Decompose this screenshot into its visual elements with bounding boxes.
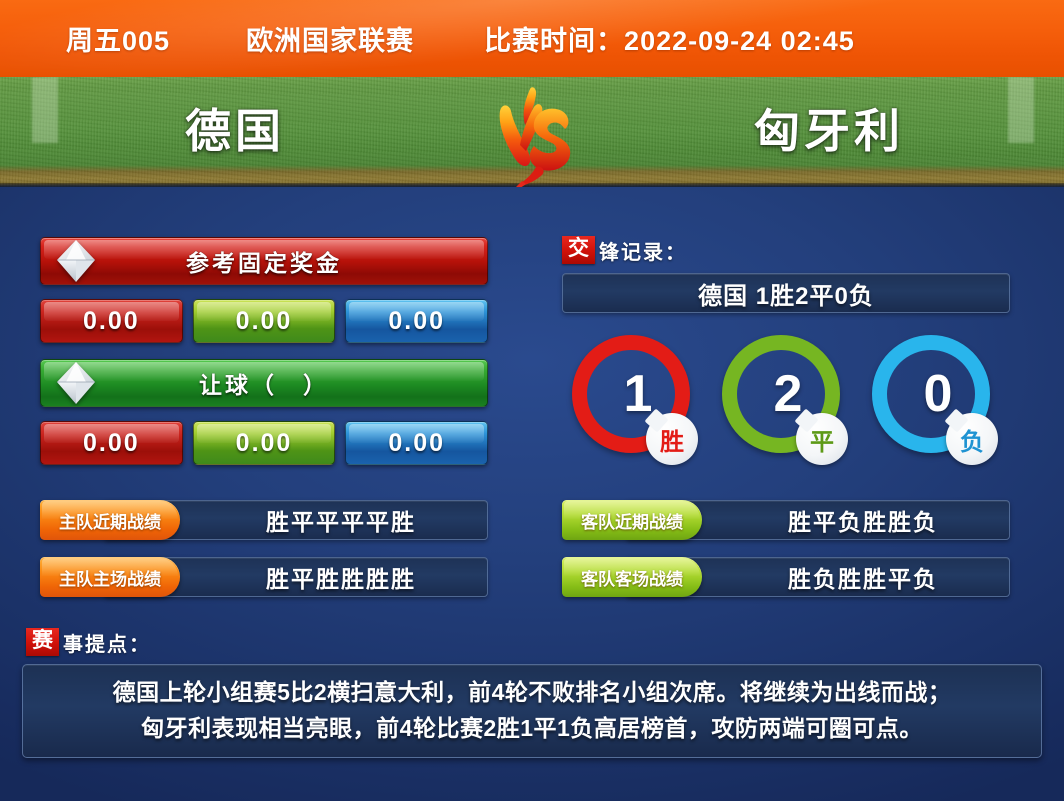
diamond-gem-icon: [55, 238, 97, 284]
main-body: 参考固定奖金 0.00 0.00 0.00: [0, 187, 1064, 801]
away-recent-form-tag: 客队近期战绩: [562, 500, 702, 540]
away-venue-form-row: 胜负胜胜平负 客队客场战绩: [562, 557, 1010, 597]
h2h-summary-text: 德国 1胜2平0负: [698, 276, 874, 311]
away-venue-form-label: 客队客场战绩: [581, 565, 683, 590]
away-recent-form-label: 客队近期战绩: [581, 508, 683, 533]
fixed-odds-title: 参考固定奖金: [186, 244, 342, 278]
h2h-ring-draw: 2 平: [722, 335, 842, 467]
handicap-odds-loss-value: 0.00: [388, 429, 445, 458]
league-name-label: 欧洲国家联赛: [246, 19, 414, 58]
notes-box: 德国上轮小组赛5比2横扫意大利，前4轮不败排名小组次席。将继续为出线而战； 匈牙…: [22, 664, 1042, 758]
match-time-label: 比赛时间：2022-09-24 02:45: [484, 19, 855, 58]
ring-win-badge: 胜: [646, 413, 698, 465]
away-recent-form-value: 胜平负胜胜负: [788, 503, 938, 537]
handicap-odds-row: 0.00 0.00 0.00: [40, 421, 488, 465]
h2h-heading-text: 锋记录：: [599, 236, 687, 265]
ring-loss-badge: 负: [946, 413, 998, 465]
handicap-odds-loss-button[interactable]: 0.00: [345, 421, 488, 465]
h2h-summary-bar: 德国 1胜2平0负: [562, 273, 1010, 313]
header-bar: 周五005 欧洲国家联赛 比赛时间：2022-09-24 02:45: [0, 0, 1064, 77]
home-venue-form-row: 胜平胜胜胜胜 主队主场战绩: [40, 557, 488, 597]
ring-draw-badge: 平: [796, 413, 848, 465]
notes-heading-text: 事提点：: [63, 628, 151, 657]
fixed-odds-loss-value: 0.00: [388, 307, 445, 336]
h2h-heading: 交 锋记录：: [562, 235, 1010, 265]
ring-draw-badge-label: 平: [810, 422, 834, 457]
away-venue-form-tag: 客队客场战绩: [562, 557, 702, 597]
fixed-odds-win-value: 0.00: [83, 307, 140, 336]
home-recent-form-value: 胜平平平平胜: [266, 503, 416, 537]
handicap-title: 让球（ ）: [199, 366, 329, 400]
odds-panel: 参考固定奖金 0.00 0.00 0.00: [40, 237, 488, 465]
handicap-odds-win-value: 0.00: [83, 429, 140, 458]
diamond-gem-icon: [55, 360, 97, 406]
notes-heading-tag: 赛: [26, 628, 59, 656]
handicap-header: 让球（ ）: [40, 359, 488, 407]
home-venue-form-label: 主队主场战绩: [59, 565, 161, 590]
notes-line-2: 匈牙利表现相当亮眼，前4轮比赛2胜1平1负高居榜首，攻防两端可圈可点。: [41, 710, 1023, 746]
pitch-banner: 德国: [0, 77, 1064, 187]
handicap-odds-draw-button[interactable]: 0.00: [193, 421, 336, 465]
match-notes-block: 赛 事提点： 德国上轮小组赛5比2横扫意大利，前4轮不败排名小组次席。将继续为出…: [22, 627, 1042, 758]
fixed-odds-loss-button[interactable]: 0.00: [345, 299, 488, 343]
home-recent-form-label: 主队近期战绩: [59, 508, 161, 533]
fixed-odds-row: 0.00 0.00 0.00: [40, 299, 488, 343]
home-team-name: 德国: [0, 95, 470, 161]
h2h-ring-win: 1 胜: [572, 335, 692, 467]
fixed-odds-header: 参考固定奖金: [40, 237, 488, 285]
h2h-heading-tag: 交: [562, 236, 595, 264]
away-venue-form-value: 胜负胜胜平负: [788, 560, 938, 594]
h2h-rings-row: 1 胜 2 平 0 负: [562, 335, 1010, 485]
home-recent-form-tag: 主队近期战绩: [40, 500, 180, 540]
home-venue-form-tag: 主队主场战绩: [40, 557, 180, 597]
ring-loss-badge-label: 负: [960, 422, 984, 457]
notes-heading: 赛 事提点：: [26, 627, 1042, 657]
h2h-ring-loss: 0 负: [872, 335, 992, 467]
fixed-odds-win-button[interactable]: 0.00: [40, 299, 183, 343]
ring-win-badge-label: 胜: [660, 422, 684, 457]
away-team-name: 匈牙利: [594, 95, 1064, 161]
match-preview-card: 周五005 欧洲国家联赛 比赛时间：2022-09-24 02:45 德国: [0, 0, 1064, 801]
handicap-odds-win-button[interactable]: 0.00: [40, 421, 183, 465]
vs-flame-icon: [478, 85, 588, 187]
head-to-head-panel: 交 锋记录： 德国 1胜2平0负 1 胜 2 平: [562, 235, 1010, 485]
fixed-odds-draw-value: 0.00: [236, 307, 293, 336]
home-recent-form-row: 胜平平平平胜 主队近期战绩: [40, 500, 488, 540]
notes-line-1: 德国上轮小组赛5比2横扫意大利，前4轮不败排名小组次席。将继续为出线而战；: [41, 674, 1023, 710]
fixed-odds-draw-button[interactable]: 0.00: [193, 299, 336, 343]
header-content: 周五005 欧洲国家联赛 比赛时间：2022-09-24 02:45: [0, 0, 1064, 77]
handicap-odds-draw-value: 0.00: [236, 429, 293, 458]
away-recent-form-row: 胜平负胜胜负 客队近期战绩: [562, 500, 1010, 540]
match-round-label: 周五005: [66, 19, 170, 58]
home-venue-form-value: 胜平胜胜胜胜: [266, 560, 416, 594]
